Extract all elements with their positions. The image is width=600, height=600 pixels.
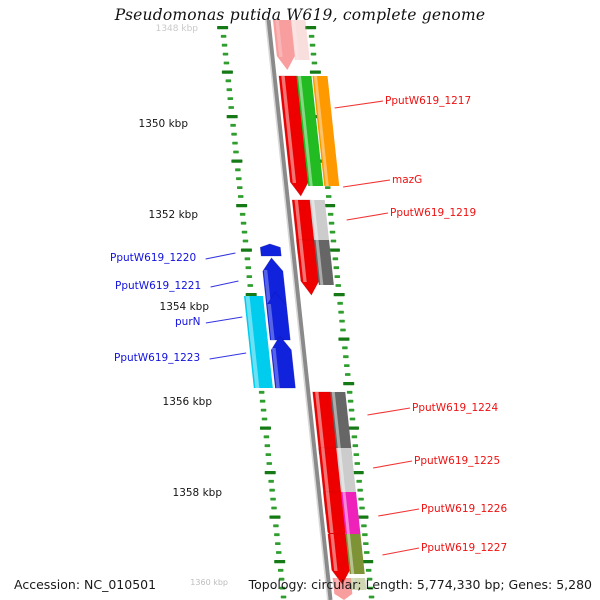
page-title: Pseudomonas putida W619, complete genome — [0, 6, 600, 24]
axis-tick-label: 1356 kbp — [150, 396, 212, 408]
reverse-strand-genes[interactable] — [244, 244, 295, 388]
axis-tick-label: 1350 kbp — [126, 118, 188, 130]
gene-label-PputW619_1224[interactable]: PputW619_1224 — [412, 402, 498, 414]
genome-browser-canvas: Pseudomonas putida W619, complete genome… — [0, 0, 600, 600]
gene-1223[interactable] — [271, 336, 295, 388]
gene-1217[interactable] — [279, 76, 339, 196]
gene-label-PputW619_1220[interactable]: PputW619_1220 — [110, 252, 196, 264]
accession-status: Accession: NC_010501 — [14, 577, 156, 592]
gene-label-PputW619_1217[interactable]: PputW619_1217 — [385, 95, 471, 107]
gene-label-PputW619_1226[interactable]: PputW619_1226 — [421, 503, 507, 515]
gene-label-PputW619_1219[interactable]: PputW619_1219 — [390, 207, 476, 219]
axis-tick-label: 1360 kbp — [166, 578, 228, 587]
gene-label-PputW619_1225[interactable]: PputW619_1225 — [414, 455, 500, 467]
gene-label-purN[interactable]: purN — [175, 316, 201, 328]
gene-top-partial[interactable] — [273, 20, 310, 70]
genome-map-svg[interactable] — [0, 0, 600, 600]
gene-1220[interactable] — [260, 244, 281, 256]
axis-tick-label: 1348 kbp — [136, 24, 198, 34]
axis-tick-label: 1358 kbp — [160, 487, 222, 499]
axis-tick-label: 1352 kbp — [136, 209, 198, 221]
genome-summary-status: Topology: circular; Length: 5,774,330 bp… — [249, 577, 592, 592]
gene-1219[interactable] — [297, 240, 334, 295]
gene-label-PputW619_1227[interactable]: PputW619_1227 — [421, 542, 507, 554]
gene-label-mazG[interactable]: mazG — [392, 174, 422, 186]
axis-tick-label: 1354 kbp — [147, 301, 209, 313]
gene-label-PputW619_1221[interactable]: PputW619_1221 — [115, 280, 201, 292]
gene-label-PputW619_1223[interactable]: PputW619_1223 — [114, 352, 200, 364]
